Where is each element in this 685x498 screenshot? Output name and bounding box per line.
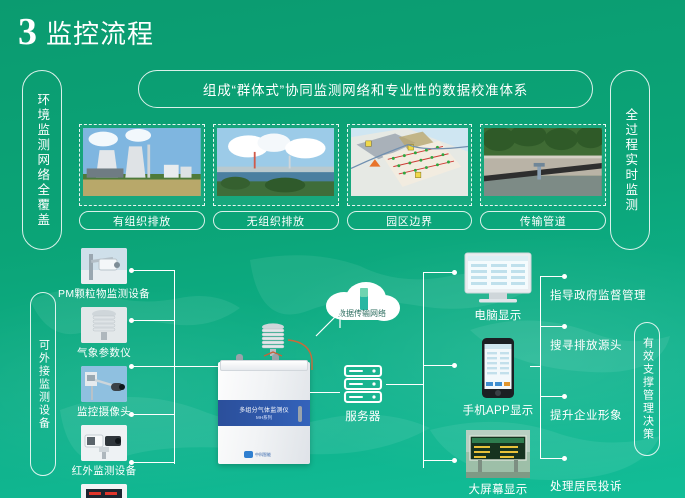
benefit-label-3: 处理居民投诉 [550, 478, 622, 494]
photo-caption-0: 有组织排放 [79, 211, 205, 230]
device-item-camera[interactable]: 监控摄像头 [62, 366, 146, 419]
benefit-dot-2 [562, 394, 567, 399]
connector-to-billboard [423, 460, 455, 461]
photo-caption-3: 传输管道 [480, 211, 606, 230]
device-item-pm-label: PM颗粒物监测设备 [58, 286, 150, 301]
smartphone-icon [481, 337, 515, 399]
pm-sensor-icon [81, 248, 127, 284]
connector-line-weather [130, 320, 175, 321]
device-item-infrared-label: 红外监测设备 [72, 463, 137, 478]
led-billboard-icon [466, 430, 530, 478]
right-top-side-label: 全过程实时监测 [610, 70, 650, 250]
benefit-line-3 [540, 458, 564, 459]
display-item-billboard-label: 大屏幕显示 [469, 481, 528, 497]
weather-sensor-icon [81, 307, 127, 343]
display-item-desktop[interactable]: 电脑显示 [455, 252, 541, 323]
photo-frame-transport-pipeline [480, 124, 606, 206]
server-icon [341, 362, 385, 406]
benefit-line-2 [540, 396, 564, 397]
cloud-uplink-lines [306, 306, 366, 364]
device-item-infrared[interactable]: 红外监测设备 [62, 425, 146, 478]
cabinet-label-band: 多组分气体监测仪 MH系列 [218, 400, 310, 426]
left-bottom-side-label: 可外接监测设备 [30, 292, 56, 476]
photo-caption-3-text: 传输管道 [520, 213, 566, 229]
power-plant-cooling-towers-photo [83, 128, 201, 196]
display-item-phone[interactable]: 手机APP显示 [455, 337, 541, 418]
right-top-side-label-text: 全过程实时监测 [624, 108, 637, 213]
connector-dot-pm [129, 268, 134, 273]
headline-banner-text: 组成“群体式”协同监测网络和专业性的数据校准体系 [203, 79, 528, 99]
device-item-noise[interactable]: 噪音监测设备 [62, 484, 146, 498]
display-item-billboard[interactable]: 大屏幕显示 [455, 430, 541, 497]
benefit-dot-3 [562, 456, 567, 461]
cabinet-brand-logo: 中科智能 [244, 451, 271, 458]
desktop-monitor-icon [463, 252, 533, 304]
photo-caption-1: 无组织排放 [213, 211, 339, 230]
server-label: 服务器 [326, 408, 400, 424]
benefit-label-1: 搜寻排放源头 [550, 337, 622, 353]
device-item-weather[interactable]: 气象参数仪 [62, 307, 146, 360]
photo-caption-1-text: 无组织排放 [247, 213, 305, 229]
display-item-desktop-label: 电脑显示 [474, 307, 521, 323]
left-bottom-side-label-text: 可外接监测设备 [38, 339, 49, 430]
benefit-dot-0 [562, 274, 567, 279]
headline-banner: 组成“群体式”协同监测网络和专业性的数据校准体系 [138, 70, 593, 108]
device-item-pm[interactable]: PM颗粒物监测设备 [62, 248, 146, 301]
benefit-dot-1 [562, 324, 567, 329]
connector-bus-right [423, 272, 424, 468]
page-header: 3 监控流程 [18, 14, 154, 50]
industrial-park-boundary-map [351, 128, 469, 196]
benefits-bus-feed [530, 366, 541, 367]
device-item-weather-label: 气象参数仪 [77, 345, 131, 360]
connector-to-monitor [423, 272, 455, 273]
cabinet-brand-text: 中科智能 [255, 452, 271, 458]
photo-row [79, 124, 606, 206]
left-top-side-label: 环境监测网络全覆盖 [22, 70, 62, 250]
section-number: 3 [18, 14, 37, 50]
infrared-device-icon [81, 425, 127, 461]
connector-line-noise [130, 462, 175, 463]
device-item-camera-label: 监控摄像头 [77, 404, 131, 419]
photo-frame-park-boundary [347, 124, 473, 206]
slide-root: 3 监控流程 组成“群体式”协同监测网络和专业性的数据校准体系 环境监测网络全覆… [0, 0, 685, 498]
cctv-camera-icon [81, 366, 127, 402]
benefit-line-0 [540, 276, 564, 277]
connector-cabinet-to-server [310, 392, 340, 393]
display-output-list: 电脑显示 手机APP显示 [455, 252, 541, 497]
photo-frame-unorganized-emission [213, 124, 339, 206]
benefit-line-1 [540, 326, 564, 327]
industrial-skyline-across-water-photo [217, 128, 335, 196]
connector-dot-camera [129, 364, 134, 369]
cabinet-title: 多组分气体监测仪 [239, 405, 289, 414]
connector-server-to-right [386, 384, 424, 385]
cabinet-door-handle[interactable] [298, 406, 302, 422]
photo-caption-row: 有组织排放 无组织排放 园区边界 传输管道 [79, 211, 606, 230]
page-title: 监控流程 [46, 21, 154, 50]
photo-caption-2-text: 园区边界 [386, 213, 432, 229]
right-bottom-side-label: 有效支撑管理决策 [634, 322, 660, 456]
photo-caption-2: 园区边界 [347, 211, 473, 230]
benefit-label-0: 指导政府监督管理 [550, 287, 646, 303]
display-item-phone-label: 手机APP显示 [462, 402, 533, 418]
connector-to-phone [423, 365, 455, 366]
connector-dot-weather [129, 318, 134, 323]
brand-mark-icon [244, 451, 253, 458]
connector-line-pm [130, 270, 175, 271]
benefit-label-2: 提升企业形象 [550, 407, 622, 423]
left-top-side-label-text: 环境监测网络全覆盖 [36, 93, 49, 228]
noise-monitor-icon [81, 484, 127, 498]
right-bottom-side-label-text: 有效支撑管理决策 [642, 337, 653, 441]
connector-line-infrared [130, 414, 175, 415]
connector-line-camera [130, 366, 175, 367]
photo-caption-0-text: 有组织排放 [113, 213, 171, 229]
connector-dot-noise [129, 460, 134, 465]
photo-frame-organized-emission [79, 124, 205, 206]
pipeline-along-wall-photo [484, 128, 602, 196]
connector-dot-infrared [129, 412, 134, 417]
connector-bus-to-cabinet [174, 366, 218, 367]
cabinet-subtitle: MH系列 [256, 415, 272, 421]
